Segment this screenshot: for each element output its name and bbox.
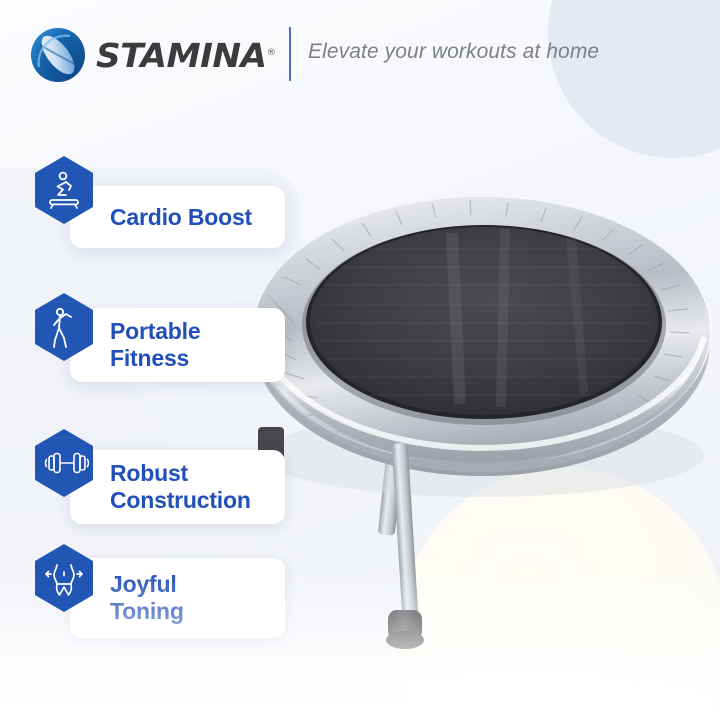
feature-badge	[33, 292, 95, 362]
feature-card: Robust Construction	[70, 450, 285, 524]
brand-tagline: Elevate your workouts at home	[308, 40, 599, 64]
product-marketing-banner: STAMINA® Elevate your workouts at home C…	[0, 0, 720, 720]
trampoline-mat	[310, 227, 658, 415]
feature-badge	[33, 428, 95, 498]
header-divider	[289, 27, 291, 81]
feature-badge	[33, 155, 95, 225]
feature-badge	[33, 543, 95, 613]
brand-wordmark: STAMINA®	[96, 36, 275, 75]
feature-card: Portable Fitness	[70, 308, 285, 382]
feature-label: Portable Fitness	[110, 318, 200, 372]
stamina-oval-logo-icon	[30, 27, 86, 83]
feature-label: Robust Construction	[110, 460, 251, 514]
feature-label: Cardio Boost	[110, 204, 252, 231]
brand-header: STAMINA® Elevate your workouts at home	[0, 0, 720, 110]
feature-card: Cardio Boost	[70, 186, 285, 248]
brand-trademark: ®	[267, 48, 276, 58]
brand-logo[interactable]: STAMINA®	[30, 27, 269, 83]
decor-bottom-fade	[0, 570, 720, 720]
